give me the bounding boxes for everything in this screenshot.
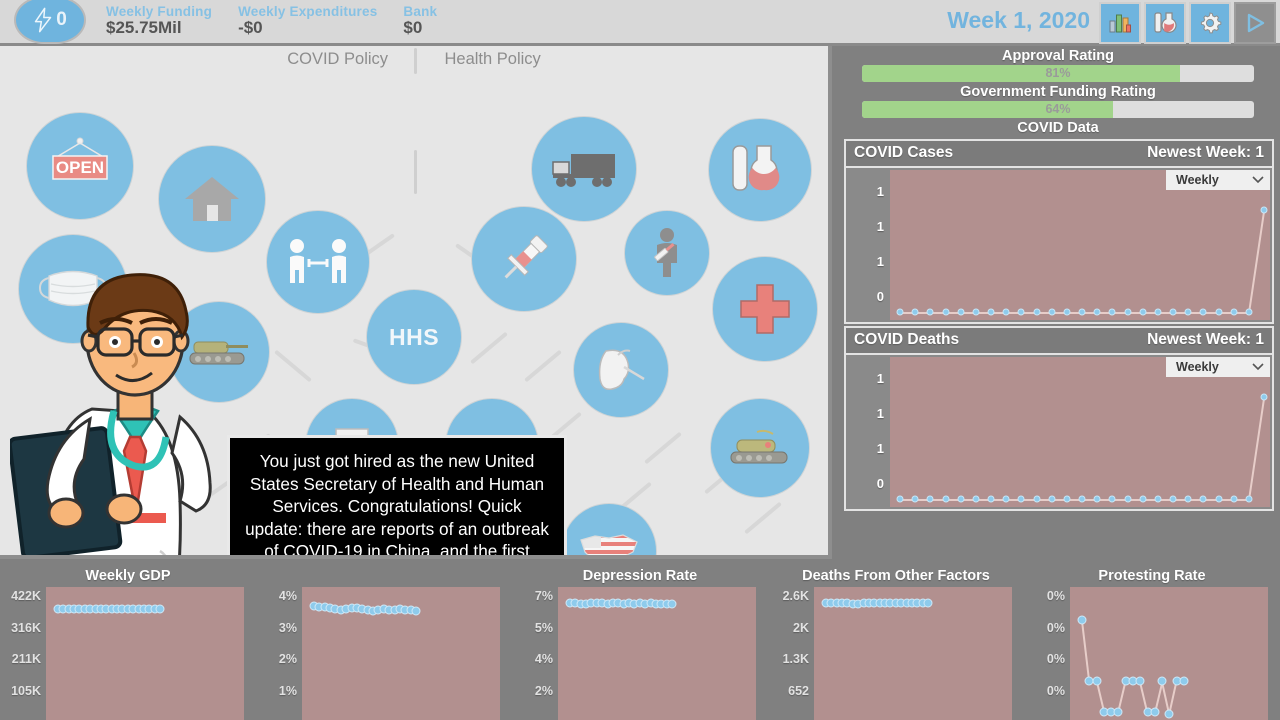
covid-data-title: COVID Data	[836, 118, 1280, 137]
chart-data-point	[1165, 710, 1174, 719]
chart-data-point	[1245, 496, 1252, 503]
stat-label: Bank	[403, 4, 437, 19]
house-icon	[183, 173, 241, 225]
policy-vaccine[interactable]	[471, 206, 577, 312]
chart-data-point	[1261, 206, 1268, 213]
chart-data-point	[1094, 309, 1101, 316]
funding-rating-meter: 64%	[862, 101, 1254, 118]
funding-rating-title: Government Funding Rating	[836, 82, 1280, 101]
covid-cases-yaxis: 1 1 1 0	[846, 168, 890, 322]
chart-data-point	[412, 607, 421, 616]
chart-plot	[46, 587, 244, 720]
stat-label: Weekly Funding	[106, 4, 212, 19]
ytick: 1.3K	[783, 652, 809, 666]
chart-data-point	[1033, 496, 1040, 503]
ytick: 1%	[279, 684, 297, 698]
red-cross-icon	[737, 281, 793, 337]
policy-social-distancing[interactable]	[266, 210, 370, 314]
ytick: 1	[877, 406, 884, 421]
covid-cases-newest-week: Newest Week: 1	[1147, 144, 1264, 162]
chart-data-point	[1139, 496, 1146, 503]
ytick: 0%	[1047, 589, 1065, 603]
chart-data-point	[1154, 309, 1161, 316]
stat-weekly-funding: Weekly Funding $25.75Mil	[106, 4, 212, 38]
policy-canvas: COVID Policy Health Policy OPEN	[0, 46, 832, 559]
chart-data-point	[668, 599, 677, 608]
research-button[interactable]	[1144, 2, 1186, 44]
chart-yaxis: 422K 316K 211K 105K	[0, 587, 46, 720]
chart-data-point	[1003, 309, 1010, 316]
tab-divider-lower	[414, 150, 417, 194]
chart-line-segment	[1248, 397, 1265, 500]
chart-data-point	[1109, 309, 1116, 316]
chart-data-point	[1079, 309, 1086, 316]
covid-deaths-plot: Weekly	[890, 357, 1270, 507]
connector-dash	[644, 432, 682, 465]
chart-data-point	[1124, 496, 1131, 503]
ytick: 422K	[11, 589, 41, 603]
approval-rating-value: 81%	[862, 65, 1254, 82]
connector-dash	[524, 350, 562, 383]
approval-rating-title: Approval Rating	[836, 46, 1280, 65]
policy-vaccination-program[interactable]	[624, 210, 710, 296]
bottom-chart-strip: Weekly GDP 422K 316K 211K 105K 4% 3% 2% …	[0, 563, 1280, 720]
nasal-swab-icon	[592, 343, 650, 397]
policy-hospital-capacity[interactable]	[712, 256, 818, 362]
energy-badge[interactable]: 0	[14, 0, 86, 44]
chart-line-segment	[1081, 621, 1090, 683]
chart-data-point	[1180, 677, 1189, 686]
chart-plot	[814, 587, 1012, 720]
chart-data-point	[942, 309, 949, 316]
chart-data-point	[1230, 496, 1237, 503]
chart-data-point	[1079, 496, 1086, 503]
chart-data-point	[1063, 496, 1070, 503]
chart-protesting-rate: Protesting Rate 0% 0% 0% 0%	[1024, 563, 1280, 720]
policy-us-borders[interactable]	[561, 503, 657, 559]
chart-data-point	[1200, 496, 1207, 503]
tab-covid-policy[interactable]: COVID Policy	[261, 50, 414, 69]
stat-value: -$0	[238, 18, 377, 38]
policy-covid-test[interactable]	[573, 322, 669, 418]
chart-plot	[302, 587, 500, 720]
chart-data-point	[1018, 496, 1025, 503]
chart-data-point	[927, 496, 934, 503]
stat-value: $0	[403, 18, 437, 38]
game-screen: 0 Weekly Funding $25.75Mil Weekly Expend…	[0, 0, 1280, 720]
chart-data-point	[1114, 707, 1123, 716]
top-status-bar: 0 Weekly Funding $25.75Mil Weekly Expend…	[0, 0, 1280, 46]
social-distancing-icon	[285, 237, 351, 287]
flask-icon	[1152, 11, 1178, 35]
range-label: Weekly	[1176, 360, 1219, 374]
chart-data-point	[1170, 496, 1177, 503]
ytick: 1	[877, 219, 884, 234]
chart-data-point	[1124, 309, 1131, 316]
top-button-group	[1099, 2, 1276, 44]
ytick: 5%	[535, 621, 553, 635]
covid-deaths-yaxis: 1 1 1 0	[846, 355, 890, 509]
ytick: 7%	[535, 589, 553, 603]
chart-weekly-gdp: Weekly GDP 422K 316K 211K 105K	[0, 563, 256, 720]
person-vaccination-icon	[643, 227, 691, 279]
covid-cases-range-select[interactable]: Weekly	[1166, 170, 1270, 190]
chart-data-point	[1261, 393, 1268, 400]
chart-data-point	[1154, 496, 1161, 503]
approval-rating-meter: 81%	[862, 65, 1254, 82]
covid-deaths-panel: COVID Deaths Newest Week: 1 1 1 1 0 Week…	[844, 326, 1274, 511]
tutorial-dialog[interactable]: You just got hired as the new United Sta…	[227, 435, 567, 559]
chart-plot	[558, 587, 756, 720]
policy-lab-testing[interactable]	[708, 118, 812, 222]
lightning-bolt-icon	[33, 7, 53, 33]
chart-title: Protesting Rate	[1024, 563, 1280, 587]
ytick: 3%	[279, 621, 297, 635]
ytick: 1	[877, 184, 884, 199]
chart-data-point	[924, 599, 933, 608]
chart-data-point	[972, 496, 979, 503]
stat-bank: Bank $0	[403, 4, 437, 38]
chart-data-point	[1003, 496, 1010, 503]
chart-deaths-other-factors: Deaths From Other Factors 2.6K 2K 1.3K 6…	[768, 563, 1024, 720]
ytick: 316K	[11, 621, 41, 635]
ytick: 652	[788, 684, 809, 698]
chart-data-point	[897, 496, 904, 503]
ytick: 1	[877, 254, 884, 269]
ytick: 2K	[793, 621, 809, 635]
chart-data-point	[972, 309, 979, 316]
ytick: 4%	[535, 652, 553, 666]
chart-data-point	[897, 309, 904, 316]
chart-title	[256, 563, 512, 587]
chart-data-point	[1158, 677, 1167, 686]
bar-chart-icon	[1108, 12, 1132, 34]
ytick: 2%	[535, 684, 553, 698]
covid-deaths-title: COVID Deaths	[854, 331, 959, 349]
hhs-node-label: HHS	[389, 324, 439, 351]
energy-count: 0	[56, 9, 67, 31]
chart-data-point	[1048, 309, 1055, 316]
chart-data-point	[912, 309, 919, 316]
connector-dash	[274, 350, 312, 383]
chart-data-point	[1018, 309, 1025, 316]
chart-data-point	[988, 309, 995, 316]
ytick: 1	[877, 441, 884, 456]
chart-data-point	[1078, 615, 1087, 624]
chart-data-point	[1136, 677, 1145, 686]
chart-data-point	[912, 496, 919, 503]
ytick: 0%	[1047, 684, 1065, 698]
chart-title: Deaths From Other Factors	[768, 563, 1024, 587]
covid-cases-plot: Weekly	[890, 170, 1270, 320]
chart-data-point	[1139, 309, 1146, 316]
chart-data-point	[1230, 309, 1237, 316]
chart-data-point	[1033, 309, 1040, 316]
policy-hhs-core[interactable]: HHS	[366, 289, 462, 385]
chart-data-point	[1048, 496, 1055, 503]
chart-data-point	[1063, 309, 1070, 316]
truck-icon	[549, 148, 619, 190]
connector-dash	[470, 332, 508, 365]
covid-cases-header: COVID Cases Newest Week: 1	[846, 141, 1272, 168]
gear-icon	[1198, 11, 1222, 35]
covid-deaths-range-select[interactable]: Weekly	[1166, 357, 1270, 377]
chart-data-point	[927, 309, 934, 316]
chart-yaxis: 4% 3% 2% 1%	[256, 587, 302, 720]
settings-button[interactable]	[1189, 2, 1231, 44]
covid-deaths-chart: 1 1 1 0 Weekly	[846, 355, 1272, 509]
chart-data-point	[957, 496, 964, 503]
open-sign-icon: OPEN	[45, 136, 115, 196]
us-flag-map-icon	[575, 530, 643, 559]
play-icon	[1244, 12, 1266, 34]
chart-data-point	[1150, 707, 1159, 716]
covid-deaths-header: COVID Deaths Newest Week: 1	[846, 328, 1272, 355]
covid-cases-chart: 1 1 1 0 Weekly	[846, 168, 1272, 322]
dialog-text: You just got hired as the new United Sta…	[244, 450, 550, 559]
ytick: 4%	[279, 589, 297, 603]
right-info-panel: Approval Rating 81% Government Funding R…	[836, 46, 1280, 559]
syringe-icon	[492, 227, 556, 291]
chart-yaxis: 0% 0% 0% 0%	[1024, 587, 1070, 720]
covid-cases-title: COVID Cases	[854, 144, 953, 162]
week-label: Week 1, 2020	[947, 7, 1090, 34]
ytick: 0	[877, 476, 884, 491]
chart-depression-rate: Depression Rate 7% 5% 4% 2%	[512, 563, 768, 720]
svg-text:OPEN: OPEN	[56, 158, 104, 177]
ytick: 0%	[1047, 652, 1065, 666]
chart-title: Depression Rate	[512, 563, 768, 587]
resource-stats: Weekly Funding $25.75Mil Weekly Expendit…	[106, 4, 463, 38]
stat-value: $25.75Mil	[106, 18, 212, 38]
chart-data-point	[156, 604, 165, 613]
tab-divider	[414, 48, 417, 74]
chart-data-point	[1185, 309, 1192, 316]
policy-military-2[interactable]	[710, 398, 810, 498]
chart-data-point	[1200, 309, 1207, 316]
ytick: 1	[877, 371, 884, 386]
funding-rating-value: 64%	[862, 101, 1254, 118]
chart-data-point	[1185, 496, 1192, 503]
ytick: 2.6K	[783, 589, 809, 603]
tank-helicopter-icon	[727, 426, 793, 470]
chart-data-point	[1109, 496, 1116, 503]
range-label: Weekly	[1176, 173, 1219, 187]
connector-dash	[744, 502, 782, 535]
tab-health-policy[interactable]: Health Policy	[419, 50, 567, 69]
chart-data-point	[988, 496, 995, 503]
covid-deaths-newest-week: Newest Week: 1	[1147, 331, 1264, 349]
stat-label: Weekly Expenditures	[238, 4, 377, 19]
chevron-down-icon	[1252, 176, 1264, 184]
test-tube-flask-icon	[727, 142, 793, 198]
chart-data-point	[1092, 677, 1101, 686]
covid-cases-panel: COVID Cases Newest Week: 1 1 1 1 0 Weekl…	[844, 139, 1274, 324]
play-button[interactable]	[1234, 2, 1276, 44]
chart-yaxis: 2.6K 2K 1.3K 652	[768, 587, 814, 720]
ytick: 0%	[1047, 621, 1065, 635]
chart-unnamed-rate: 4% 3% 2% 1%	[256, 563, 512, 720]
chart-plot	[1070, 587, 1268, 720]
chart-yaxis: 7% 5% 4% 2%	[512, 587, 558, 720]
ytick: 0	[877, 289, 884, 304]
chart-data-point	[1094, 496, 1101, 503]
ytick: 211K	[12, 652, 41, 666]
chart-data-point	[1170, 309, 1177, 316]
chart-data-point	[942, 496, 949, 503]
chevron-down-icon	[1252, 363, 1264, 371]
ytick: 2%	[279, 652, 297, 666]
chart-line-segment	[1248, 210, 1265, 313]
ytick: 105K	[11, 684, 41, 698]
statistics-button[interactable]	[1099, 2, 1141, 44]
chart-title: Weekly GDP	[0, 563, 256, 587]
chart-data-point	[957, 309, 964, 316]
policy-open-business[interactable]: OPEN	[26, 112, 134, 220]
policy-supply-chain[interactable]	[531, 116, 637, 222]
chart-data-point	[1215, 309, 1222, 316]
chart-data-point	[1215, 496, 1222, 503]
stat-weekly-expenditures: Weekly Expenditures -$0	[238, 4, 377, 38]
chart-data-point	[1245, 309, 1252, 316]
policy-stay-at-home[interactable]	[158, 145, 266, 253]
